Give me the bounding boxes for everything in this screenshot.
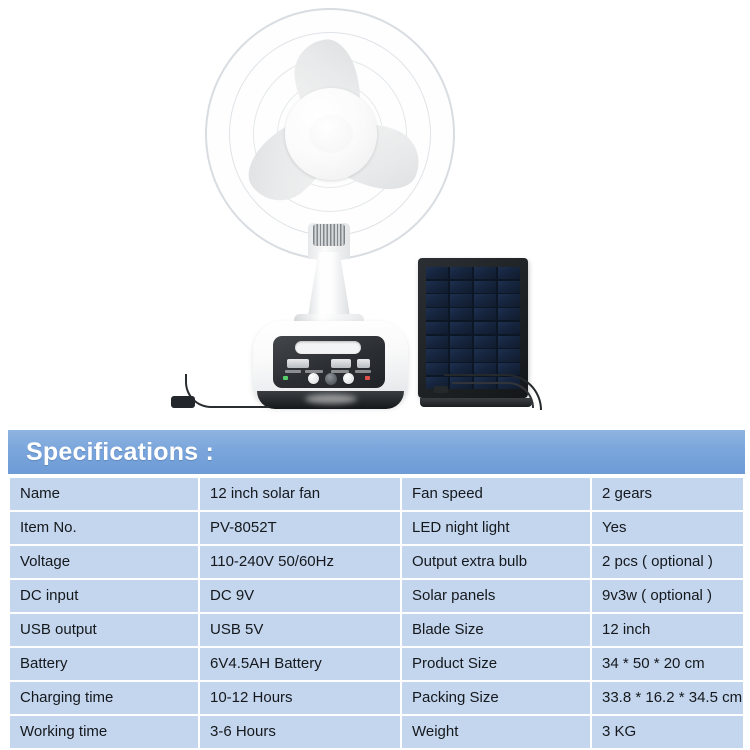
spec-value: 10-12 Hours [200,682,400,714]
spec-value: 12 inch solar fan [200,478,400,510]
spec-label: Output extra bulb [402,546,590,578]
charge-led-green [283,376,288,380]
solar-cable-connector [434,386,448,393]
spec-value: 2 pcs ( optional ) [592,546,743,578]
solar-cell [450,267,472,279]
solar-cell [498,267,520,279]
spec-value: DC 9V [200,580,400,612]
solar-cell [474,336,496,348]
spec-label: Fan speed [402,478,590,510]
spec-label: LED night light [402,512,590,544]
solar-cell [450,308,472,320]
speed-button[interactable] [308,373,319,384]
solar-table-fan [195,8,455,428]
table-row: DC inputDC 9VSolar panels9v3w ( optional… [10,580,743,612]
product-photo [0,0,750,430]
specifications-table: Name12 inch solar fanFan speed2 gearsIte… [8,476,745,750]
spec-label: DC input [10,580,198,612]
table-row: Charging time10-12 HoursPacking Size33.8… [10,682,743,714]
panel-label-4 [355,370,371,373]
spec-label: USB output [10,614,198,646]
solar-cell [450,349,472,361]
spec-value: 3 KG [592,716,743,748]
solar-cell [498,322,520,334]
spec-value: 33.8 * 16.2 * 34.5 cm [592,682,743,714]
solar-cell [426,294,448,306]
solar-cell [474,322,496,334]
solar-cell [426,267,448,279]
fan-neck [307,252,351,322]
solar-cell [426,336,448,348]
solar-cell [474,281,496,293]
table-row: Battery6V4.5AH BatteryProduct Size34 * 5… [10,648,743,680]
dc-input-port [287,359,309,368]
power-led-red [365,376,370,380]
spec-value: USB 5V [200,614,400,646]
spec-label: Weight [402,716,590,748]
product-spec-page: Specifications : Name12 inch solar fanFa… [0,0,750,750]
spec-label: Charging time [10,682,198,714]
spec-label: Battery [10,648,198,680]
table-row: USB outputUSB 5VBlade Size12 inch [10,614,743,646]
spec-label: Product Size [402,648,590,680]
spec-value: PV-8052T [200,512,400,544]
fan-motor-fins [313,224,345,246]
spec-value: Yes [592,512,743,544]
specifications-section: Specifications : Name12 inch solar fanFa… [8,430,745,750]
solar-cell [498,349,520,361]
power-plug [171,396,195,408]
panel-label-1 [285,370,301,373]
specifications-header: Specifications : [8,430,745,474]
solar-cell [498,336,520,348]
solar-cell [426,308,448,320]
solar-cell [426,281,448,293]
solar-cell [474,294,496,306]
solar-cell [450,336,472,348]
fan-base-highlight [305,394,357,404]
spec-label: Solar panels [402,580,590,612]
solar-cell-grid [426,267,520,389]
spec-label: Packing Size [402,682,590,714]
solar-cell [426,322,448,334]
mode-dial[interactable] [325,373,337,385]
solar-cell [426,349,448,361]
solar-cell [498,308,520,320]
solar-cell [450,281,472,293]
usb-output-port [331,359,351,368]
spec-label: Voltage [10,546,198,578]
table-row: Working time3-6 HoursWeight3 KG [10,716,743,748]
light-button[interactable] [343,373,354,384]
specifications-title: Specifications : [26,438,214,467]
solar-panel-cable-loop [452,382,534,408]
spec-value: 110-240V 50/60Hz [200,546,400,578]
spec-value: 3-6 Hours [200,716,400,748]
solar-cell [474,267,496,279]
table-row: Voltage110-240V 50/60HzOutput extra bulb… [10,546,743,578]
power-cord [185,374,269,408]
carry-handle-slot [295,341,361,354]
spec-label: Working time [10,716,198,748]
spec-label: Blade Size [402,614,590,646]
table-row: Name12 inch solar fanFan speed2 gears [10,478,743,510]
solar-cell [450,294,472,306]
solar-cell [498,281,520,293]
solar-cell [498,294,520,306]
spec-label: Name [10,478,198,510]
spec-value: 34 * 50 * 20 cm [592,648,743,680]
spec-value: 2 gears [592,478,743,510]
spec-label: Item No. [10,512,198,544]
bulb-output-port [357,359,370,368]
spec-value: 12 inch [592,614,743,646]
table-row: Item No.PV-8052TLED night lightYes [10,512,743,544]
solar-cell [474,349,496,361]
solar-cell [450,322,472,334]
spec-value: 6V4.5AH Battery [200,648,400,680]
spec-value: 9v3w ( optional ) [592,580,743,612]
fan-hub-cap [309,115,353,153]
solar-cell [474,308,496,320]
